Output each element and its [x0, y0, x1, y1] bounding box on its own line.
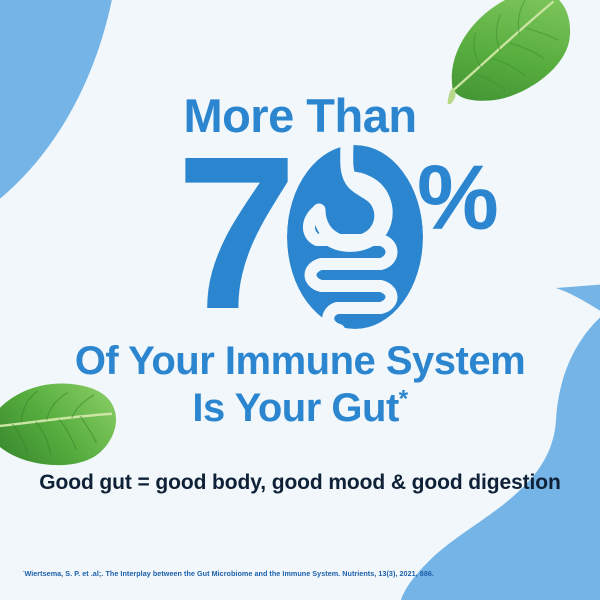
percent-symbol: % — [417, 152, 499, 244]
infographic-poster: More Than 7 — [0, 0, 600, 600]
statistic-digit-zero-ring — [287, 145, 423, 329]
footnote-citation: ˈWiertsema, S. P. et .al;. The Interplay… — [22, 569, 434, 578]
footnote-marker: * — [399, 386, 408, 413]
statistic-digit-seven: 7 — [176, 142, 287, 325]
subheadline-line-1: Of Your Immune System — [0, 341, 600, 381]
digestive-system-icon — [285, 144, 425, 330]
headline-kicker: More Than — [0, 92, 600, 139]
subheadline-line-2-text: Is Your Gut — [192, 386, 398, 430]
subheadline-line-2: Is Your Gut* — [0, 388, 600, 428]
tagline: Good gut = good body, good mood & good d… — [0, 472, 600, 493]
poster-content: More Than 7 — [0, 0, 600, 600]
big-statistic: 7 — [0, 142, 600, 332]
